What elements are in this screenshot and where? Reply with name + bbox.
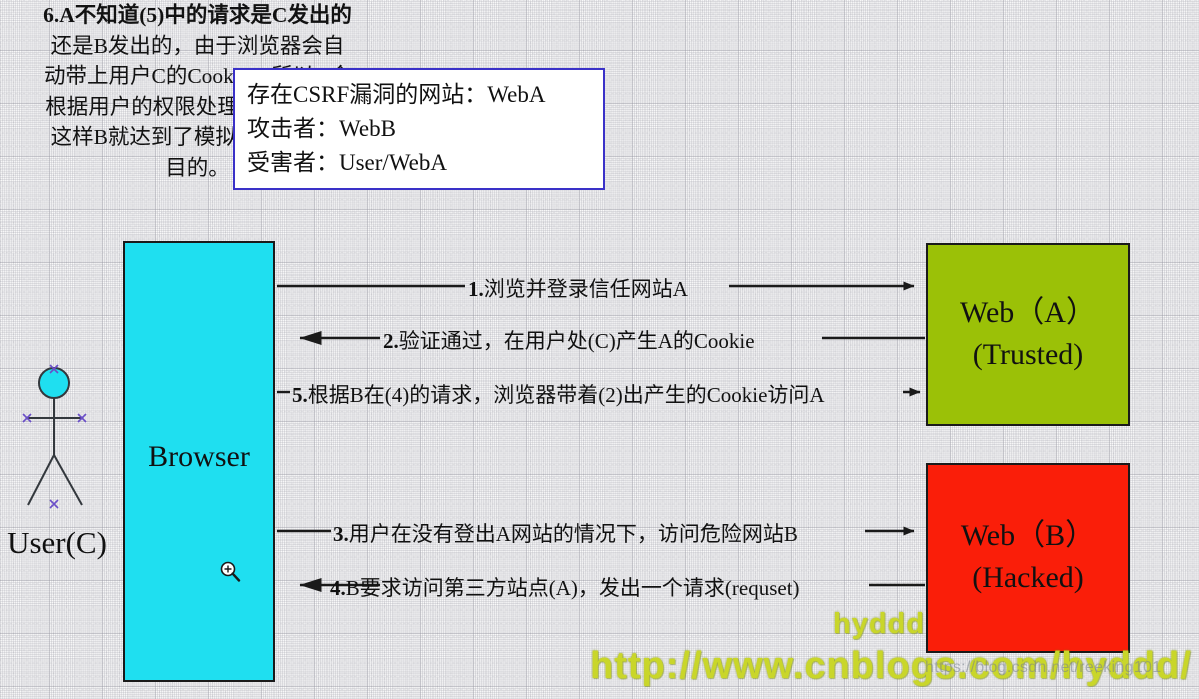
zoom-cursor-icon [219, 560, 241, 582]
web-a-line2: (Trusted) [926, 334, 1130, 376]
flow-5-num: 5. [292, 383, 308, 407]
info-line-1: 存在CSRF漏洞的网站：WebA [247, 78, 603, 112]
flow-2-num: 2. [383, 329, 399, 353]
browser-label: Browser [123, 440, 275, 474]
flow-1-text: 浏览并登录信任网站A [484, 277, 688, 301]
web-b-line1: Web（B） [926, 515, 1130, 557]
flow-3-text: 用户在没有登出A网站的情况下，访问危险网站B [349, 522, 798, 546]
actor-label: User(C) [0, 525, 122, 561]
flow-4-num: 4. [330, 576, 346, 600]
watermark-csdn: https://blog.csdn.net/reeking101 [925, 659, 1161, 677]
info-line-3: 受害者：User/WebA [247, 146, 603, 180]
info-legend-box: 存在CSRF漏洞的网站：WebA 攻击者：WebB 受害者：User/WebA [233, 68, 605, 190]
note-line-1: 6.A不知道(5)中的请求是C发出的 [0, 0, 395, 31]
note-line-2: 还是B发出的，由于浏览器会自 [0, 31, 395, 62]
diagram-canvas: 存在CSRF漏洞的网站：WebA 攻击者：WebB 受害者：User/WebA … [0, 0, 1199, 699]
flow-5-text: 根据B在(4)的请求，浏览器带着(2)出产生的Cookie访问A [308, 383, 825, 407]
actor-user-figure [10, 360, 110, 510]
watermark-name: hyddd [833, 608, 925, 641]
flow-3-num: 3. [333, 522, 349, 546]
web-a-line1: Web（A） [926, 292, 1130, 334]
flow-2-text: 验证通过，在用户处(C)产生A的Cookie [399, 329, 755, 353]
flow-4-text: B要求访问第三方站点(A)，发出一个请求(requset) [346, 576, 800, 600]
web-a-label: Web（A） (Trusted) [926, 292, 1130, 376]
info-line-2: 攻击者：WebB [247, 112, 603, 146]
web-b-label: Web（B） (Hacked) [926, 515, 1130, 599]
web-b-line2: (Hacked) [926, 557, 1130, 599]
flow-1-num: 1. [468, 277, 484, 301]
